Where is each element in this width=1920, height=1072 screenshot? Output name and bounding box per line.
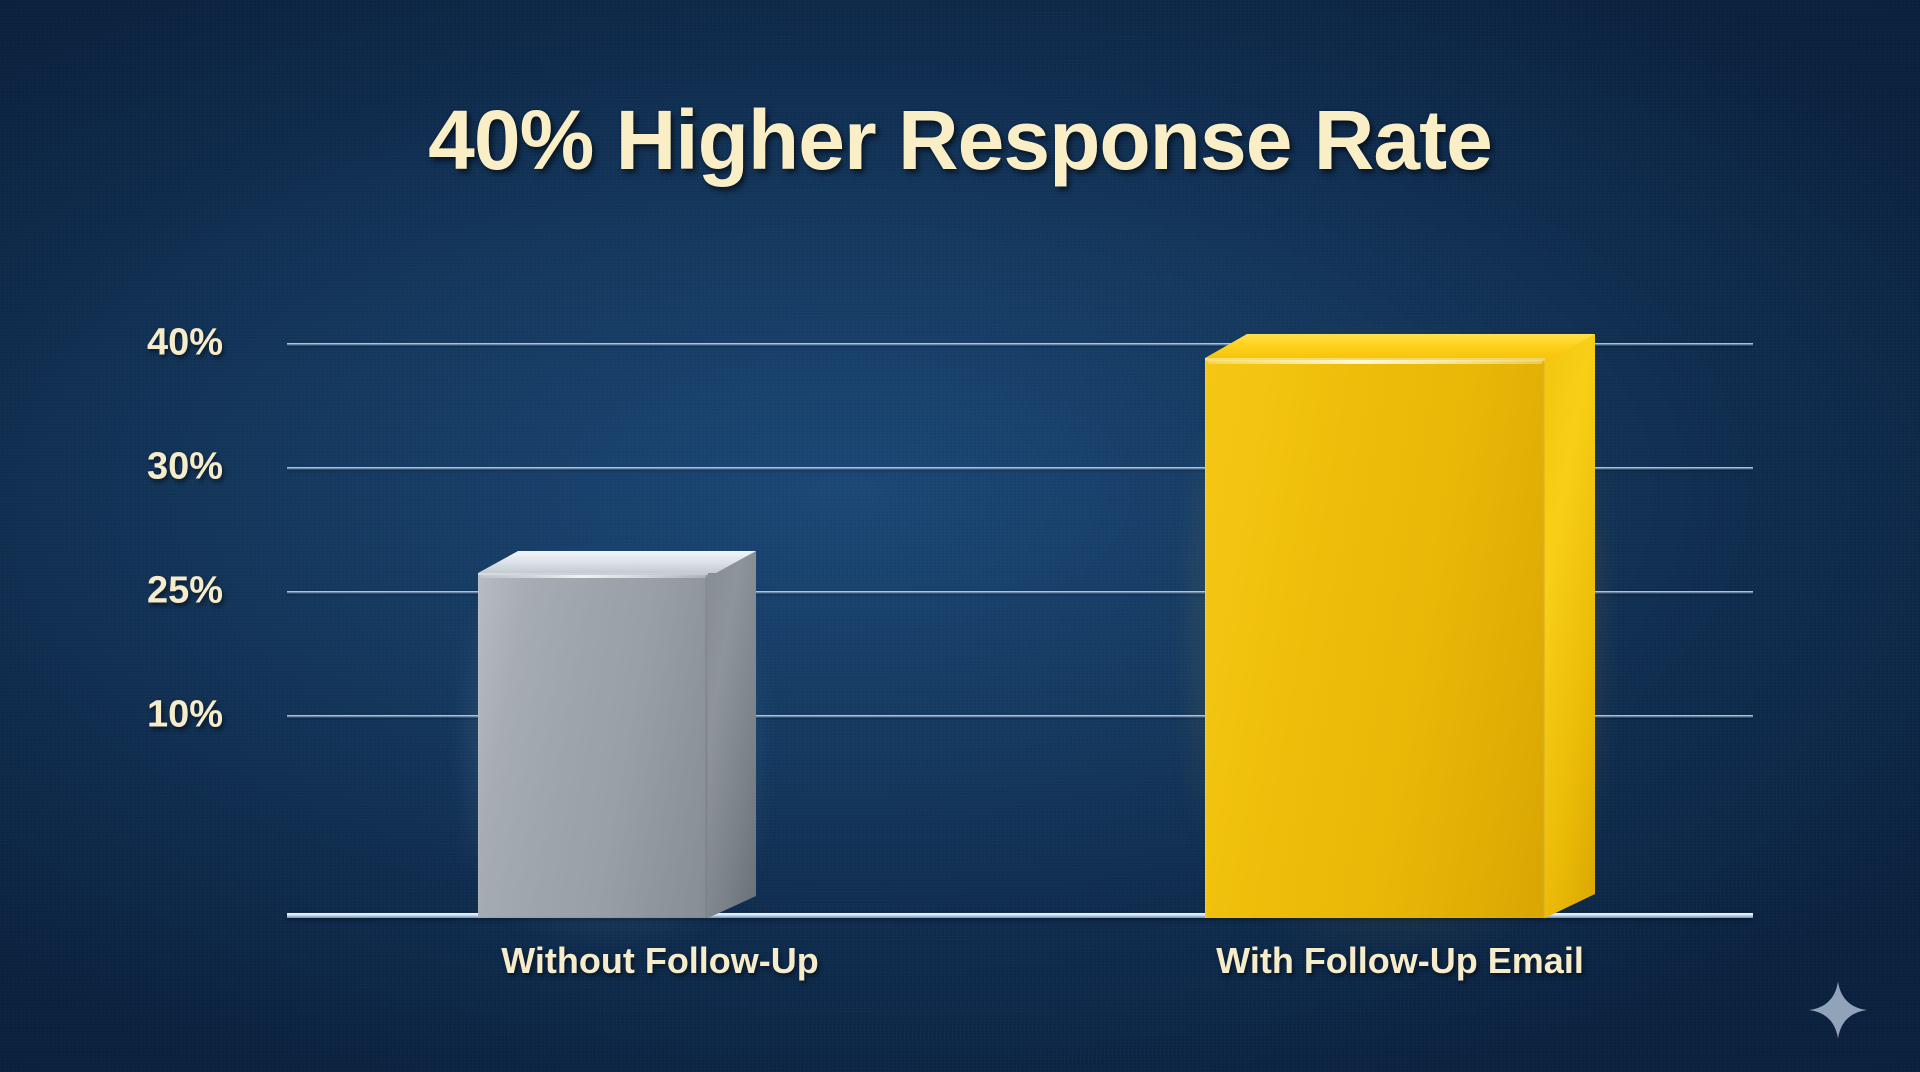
bar-top-face xyxy=(1205,334,1595,358)
y-tick-label-30: 30% xyxy=(147,446,223,489)
y-axis-labels: 40% 30% 25% 10% xyxy=(0,0,265,1072)
x-axis-label-with-follow-up-email: With Follow-Up Email xyxy=(1216,940,1584,982)
bar-front-face xyxy=(1205,358,1545,918)
y-tick-label-40: 40% xyxy=(147,322,223,365)
sparkle-icon xyxy=(1808,980,1868,1040)
y-tick-label-10: 10% xyxy=(147,694,223,737)
x-axis-label-without-follow-up: Without Follow-Up xyxy=(501,940,819,982)
bar-with-follow-up-email[interactable] xyxy=(1205,358,1545,918)
bar-without-follow-up[interactable] xyxy=(478,573,708,918)
y-tick-label-25: 25% xyxy=(147,570,223,613)
bar-side-face xyxy=(1545,334,1595,918)
bar-top-highlight xyxy=(480,575,706,578)
bar-front-face xyxy=(478,573,708,918)
bar-top-highlight xyxy=(1208,360,1542,364)
page-title: 40% Higher Response Rate xyxy=(0,92,1920,189)
bar-side-face xyxy=(708,551,756,918)
bar-top-face xyxy=(478,551,756,573)
